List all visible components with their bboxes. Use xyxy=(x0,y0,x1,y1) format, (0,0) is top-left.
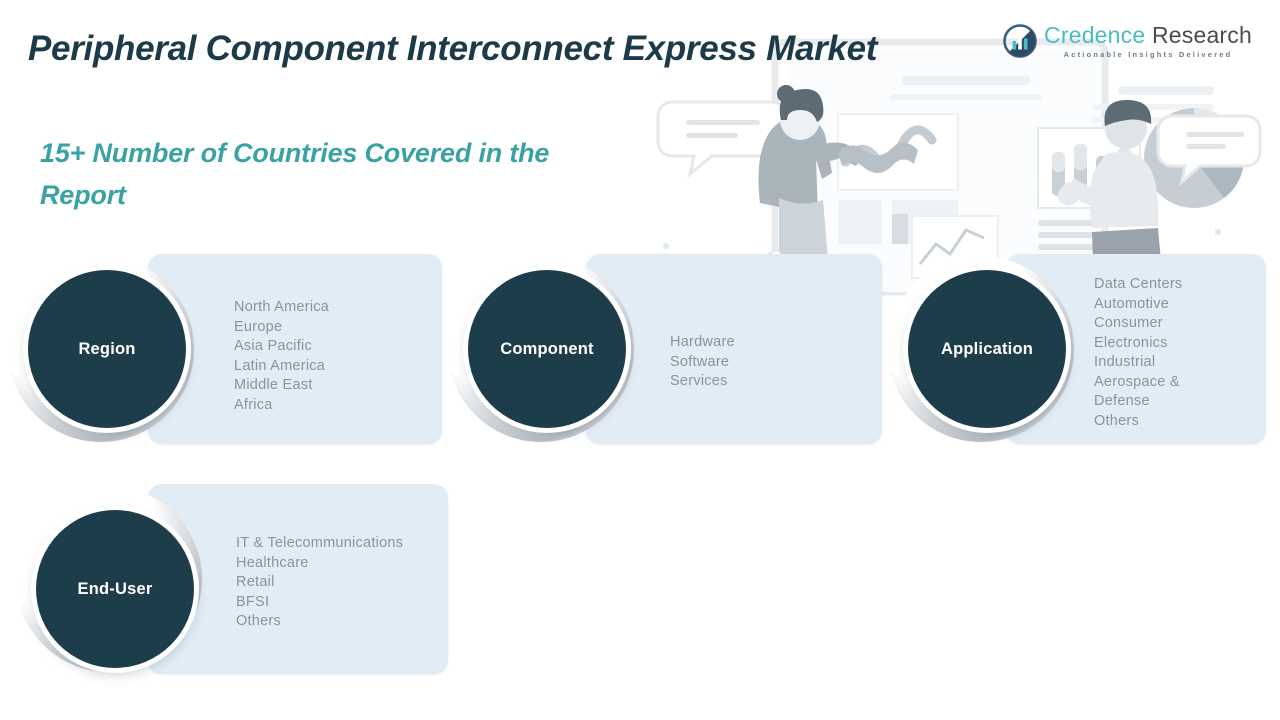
page-title: Peripheral Component Interconnect Expres… xyxy=(28,28,958,69)
logo-text: Credence Research Actionable Insights De… xyxy=(1044,24,1252,58)
segment-end-user-label: End-User xyxy=(78,580,153,598)
segment-component-list: Hardware Software Services xyxy=(670,333,870,392)
segment-region-label: Region xyxy=(78,340,135,358)
segment-end-user-disc[interactable]: End-User xyxy=(36,510,194,668)
logo-name: Credence Research xyxy=(1044,24,1252,47)
segment-application-label: Application xyxy=(941,340,1033,358)
logo-name-credence: Credence xyxy=(1044,22,1145,48)
segment-component-label: Component xyxy=(500,340,593,358)
brand-logo[interactable]: Credence Research Actionable Insights De… xyxy=(1003,24,1252,58)
slide-root: Peripheral Component Interconnect Expres… xyxy=(0,0,1280,720)
logo-tagline: Actionable Insights Delivered xyxy=(1044,51,1252,58)
bar-chart-circle-icon xyxy=(1003,24,1037,58)
logo-name-research: Research xyxy=(1152,22,1252,48)
segment-application-list: Data Centers Automotive Consumer Electro… xyxy=(1094,275,1274,431)
segment-component-disc[interactable]: Component xyxy=(468,270,626,428)
segment-application-disc[interactable]: Application xyxy=(908,270,1066,428)
page-subtitle: 15+ Number of Countries Covered in the R… xyxy=(40,133,600,217)
segment-end-user-list: IT & Telecommunications Healthcare Retai… xyxy=(236,534,446,632)
segment-region-disc[interactable]: Region xyxy=(28,270,186,428)
segment-region-list: North America Europe Asia Pacific Latin … xyxy=(234,298,434,415)
